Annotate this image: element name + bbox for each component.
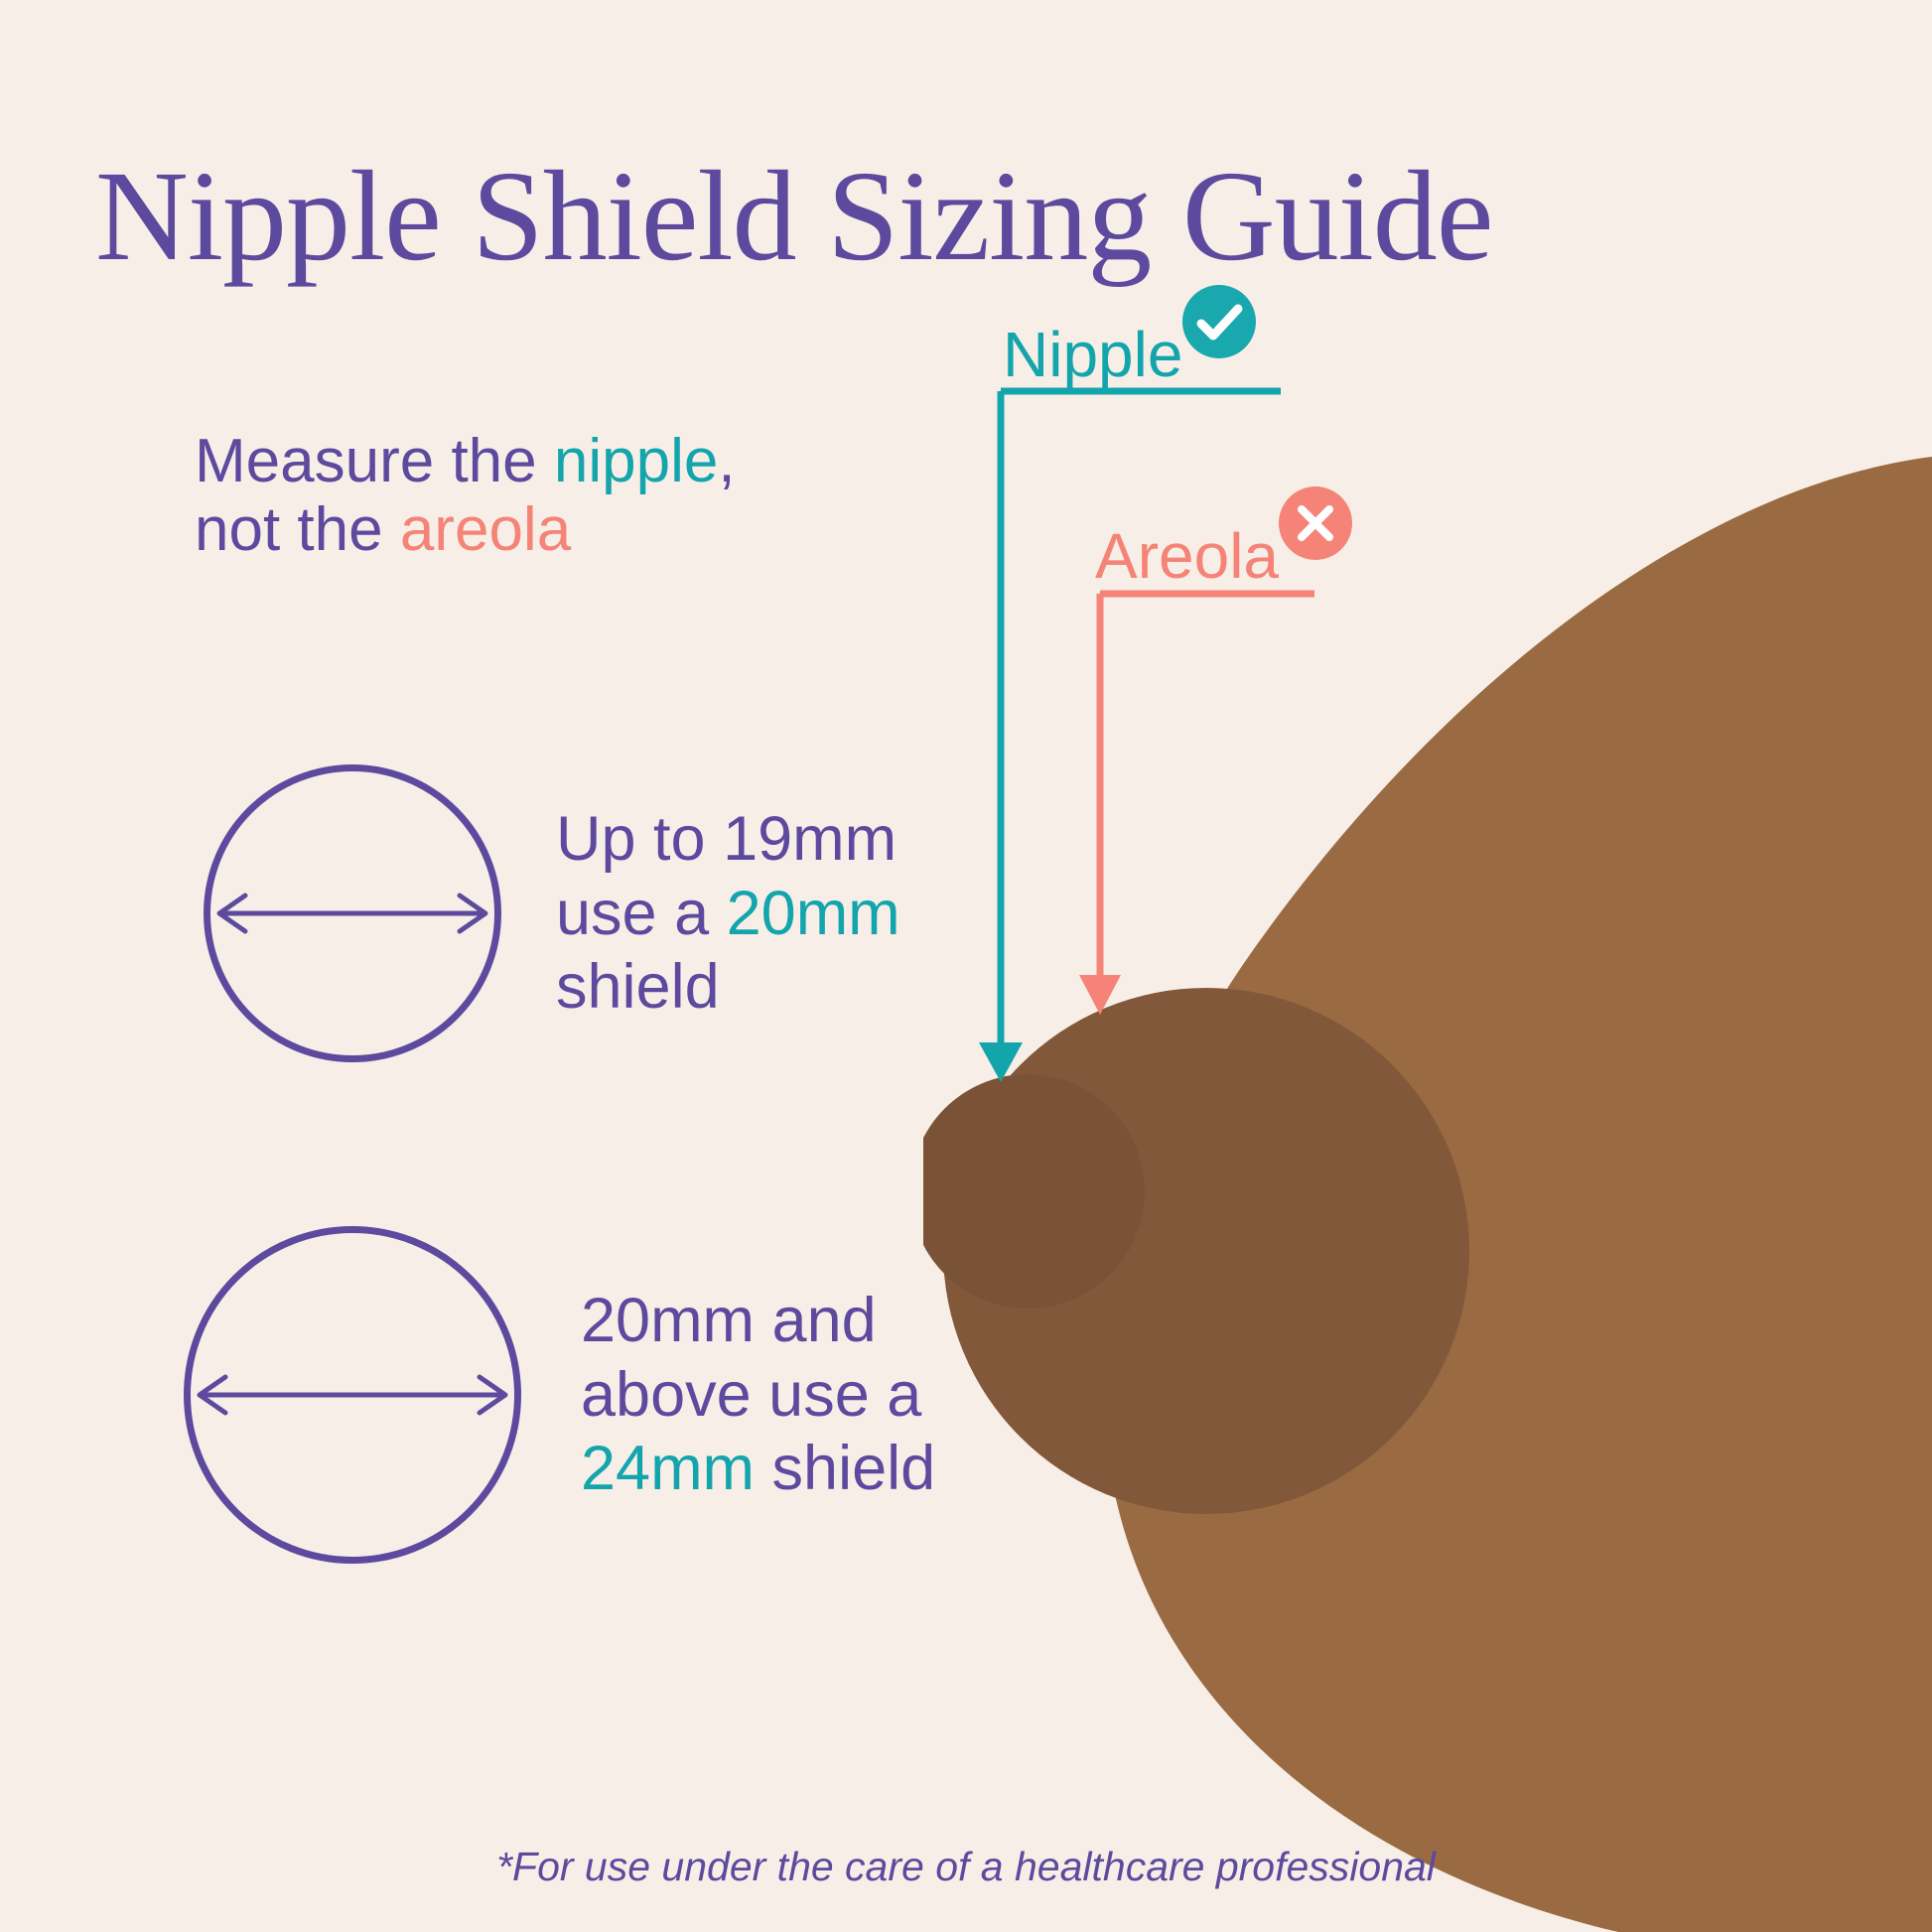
- measurement-circle-large: [184, 1226, 521, 1564]
- size-shield-highlight: 24mm: [581, 1434, 755, 1503]
- size-text-pre: 20mm and above use a: [581, 1286, 921, 1430]
- size-rule-up-to-19mm: Up to 19mm use a 20mm shield: [204, 764, 1013, 1062]
- check-icon: [1182, 285, 1256, 358]
- size-shield-highlight: 20mm: [727, 879, 900, 948]
- diameter-arrow-icon: [204, 884, 501, 943]
- breast-anatomy-illustration: [923, 258, 1932, 1932]
- subtitle-line1-post: ,: [718, 427, 735, 495]
- diameter-arrow-icon: [184, 1365, 521, 1425]
- label-areola-text: Areola: [1095, 520, 1279, 592]
- label-nipple: Nipple: [1003, 323, 1182, 386]
- size-rule-20mm-and-above: 20mm and above use a 24mm shield: [184, 1226, 1047, 1564]
- cross-icon: [1279, 486, 1352, 560]
- label-areola: Areola: [1095, 524, 1279, 588]
- measurement-circle-small: [204, 764, 501, 1062]
- label-nipple-text: Nipple: [1003, 319, 1182, 390]
- subtitle-line2-pre: not the: [195, 495, 400, 564]
- infographic-canvas: Nipple Shield Sizing Guide Measure the n…: [0, 0, 1932, 1932]
- size-text-post: shield: [556, 952, 720, 1022]
- subtitle-areola-highlight: areola: [400, 495, 571, 564]
- footnote: *For use under the care of a healthcare …: [0, 1844, 1932, 1890]
- subtitle-nipple-highlight: nipple: [554, 427, 718, 495]
- size-text-post: shield: [755, 1434, 935, 1503]
- subtitle-line1-pre: Measure the: [195, 427, 554, 495]
